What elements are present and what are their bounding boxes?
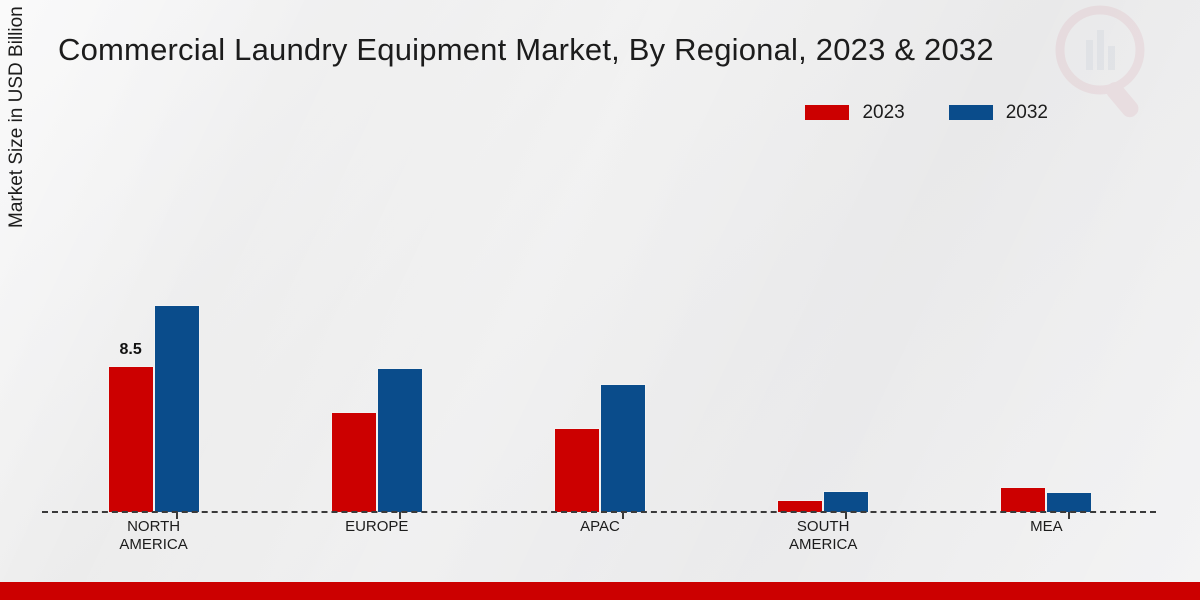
x-axis-baseline [42, 511, 1156, 513]
bar-value-label: 8.5 [119, 341, 141, 359]
bar-group-north-america: 8.5 [59, 140, 249, 512]
legend-label-2032: 2032 [1006, 103, 1048, 122]
bar-2023-europe[interactable] [331, 412, 377, 512]
footer-accent-bar [0, 582, 1200, 600]
x-label-apac: APAC [505, 518, 695, 555]
y-axis-label: Market Size in USD Billion [6, 0, 28, 228]
legend-swatch-2023 [805, 105, 849, 120]
bar-2023-apac[interactable] [554, 428, 600, 512]
x-axis-labels: NORTHAMERICA EUROPE APAC SOUTHAMERICA ME… [42, 518, 1158, 555]
chart-legend: 2023 2032 [805, 103, 1048, 122]
legend-item-2023[interactable]: 2023 [805, 103, 904, 122]
bar-2032-mea[interactable] [1046, 492, 1092, 512]
bar-2032-apac[interactable] [600, 384, 646, 512]
legend-swatch-2032 [949, 105, 993, 120]
bar-group-europe [282, 140, 472, 512]
magnifier-logo-watermark [1028, 0, 1178, 138]
x-label-south-america: SOUTHAMERICA [728, 518, 918, 555]
bar-2023-north-america[interactable]: 8.5 [108, 366, 154, 512]
bar-2023-mea[interactable] [1000, 487, 1046, 512]
chart-title: Commercial Laundry Equipment Market, By … [58, 32, 994, 68]
bar-group-south-america [728, 140, 918, 512]
bar-2032-south-america[interactable] [823, 491, 869, 512]
chart-canvas: Commercial Laundry Equipment Market, By … [0, 0, 1200, 600]
x-label-europe: EUROPE [282, 518, 472, 555]
bar-group-apac [505, 140, 695, 512]
legend-item-2032[interactable]: 2032 [949, 103, 1048, 122]
x-label-mea: MEA [951, 518, 1141, 555]
legend-label-2023: 2023 [862, 103, 904, 122]
bar-groups: 8.5 [42, 140, 1158, 512]
bar-2032-europe[interactable] [377, 368, 423, 512]
x-label-north-america: NORTHAMERICA [59, 518, 249, 555]
bar-group-mea [951, 140, 1141, 512]
bar-2032-north-america[interactable] [154, 305, 200, 512]
